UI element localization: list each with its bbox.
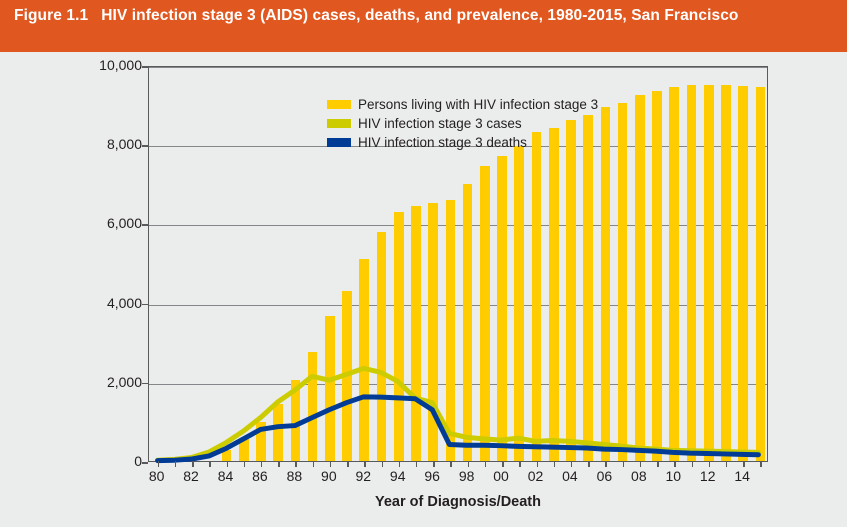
y-axis-tick-label: 6,000: [72, 215, 142, 231]
x-axis-tick: [605, 461, 607, 467]
x-axis-tick-labels: 808284868890929496980002040608101214: [148, 468, 768, 490]
legend-item: HIV infection stage 3 cases: [327, 114, 598, 133]
x-axis-tick: [175, 461, 177, 467]
x-axis-tick: [399, 461, 401, 467]
x-axis-tick: [450, 461, 452, 467]
x-axis-tick: [726, 461, 728, 467]
x-axis-tick: [571, 461, 573, 467]
x-axis-tick: [468, 461, 470, 467]
x-axis-tick: [640, 461, 642, 467]
legend: Persons living with HIV infection stage …: [327, 95, 598, 152]
figure-number: Figure 1.1: [14, 5, 88, 26]
x-axis-tick: [743, 461, 745, 467]
legend-item-label: HIV infection stage 3 deaths: [358, 135, 527, 150]
x-axis-tick: [537, 461, 539, 467]
legend-item-label: Persons living with HIV infection stage …: [358, 97, 598, 112]
x-axis-tick: [347, 461, 349, 467]
x-axis-title: Year of Diagnosis/Death: [148, 494, 768, 510]
y-axis-tick-label: 0: [72, 453, 142, 469]
x-axis-tick: [416, 461, 418, 467]
x-axis-tick: [692, 461, 694, 467]
chart-area: Number of Cases/Deaths 02,0004,0006,0008…: [0, 52, 847, 527]
x-axis-tick: [674, 461, 676, 467]
y-axis-tick-label: 2,000: [72, 374, 142, 390]
page-title: HIV infection stage 3 (AIDS) cases, deat…: [101, 5, 738, 26]
x-axis-tick: [209, 461, 211, 467]
x-axis-tick: [278, 461, 280, 467]
figure-container: Figure 1.1 HIV infection stage 3 (AIDS) …: [0, 0, 847, 527]
x-axis-tick: [588, 461, 590, 467]
x-axis-tick: [485, 461, 487, 467]
x-axis-tick: [295, 461, 297, 467]
x-axis-tick: [227, 461, 229, 467]
x-axis-tick: [709, 461, 711, 467]
x-axis-tick: [502, 461, 504, 467]
x-axis-tick: [158, 461, 160, 467]
x-axis-tick: [433, 461, 435, 467]
x-axis-tick: [623, 461, 625, 467]
y-axis-tick-labels: 02,0004,0006,0008,00010,000: [70, 66, 142, 462]
legend-item: HIV infection stage 3 deaths: [327, 133, 598, 152]
legend-item-label: HIV infection stage 3 cases: [358, 116, 522, 131]
legend-item: Persons living with HIV infection stage …: [327, 95, 598, 114]
figure-title-banner: Figure 1.1 HIV infection stage 3 (AIDS) …: [0, 0, 847, 52]
x-axis-tick: [330, 461, 332, 467]
y-axis-tick: [142, 462, 148, 464]
title-line: Figure 1.1 HIV infection stage 3 (AIDS) …: [14, 5, 833, 26]
x-axis-tick: [313, 461, 315, 467]
x-axis-tick: [519, 461, 521, 467]
x-axis-tick: [760, 461, 762, 467]
x-axis-tick: [657, 461, 659, 467]
x-axis-tick: [382, 461, 384, 467]
plot-area: Persons living with HIV infection stage …: [148, 66, 768, 462]
y-axis-tick-label: 8,000: [72, 136, 142, 152]
x-axis-tick-label: 14: [722, 468, 762, 484]
x-axis-tick: [364, 461, 366, 467]
x-axis-tick: [192, 461, 194, 467]
legend-swatch-line-icon: [327, 138, 351, 147]
legend-swatch-line-icon: [327, 119, 351, 128]
y-axis-tick-label: 10,000: [72, 57, 142, 73]
x-axis-tick: [244, 461, 246, 467]
legend-swatch-bar-icon: [327, 100, 351, 109]
y-axis-tick-label: 4,000: [72, 295, 142, 311]
x-axis-tick: [261, 461, 263, 467]
x-axis-tick: [554, 461, 556, 467]
